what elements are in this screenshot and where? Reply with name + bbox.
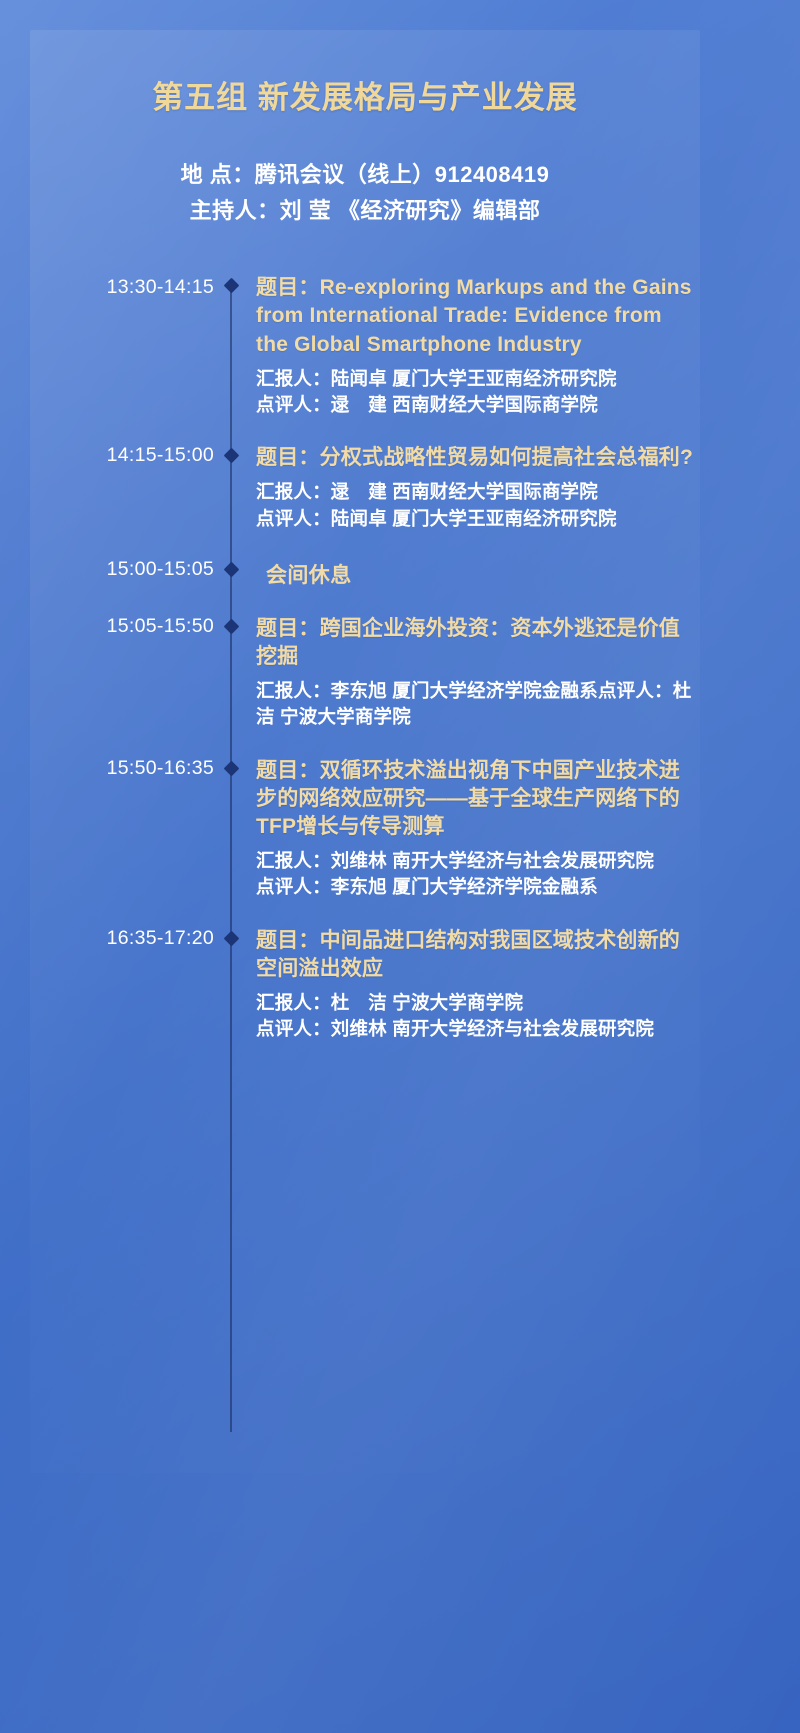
break-label: 会间休息 [256, 559, 696, 589]
discussant-line: 点评人：刘维林 南开大学经济与社会发展研究院 [256, 1016, 696, 1042]
session-time: 15:05-15:50 [52, 615, 222, 638]
presenter-line: 汇报人：李东旭 厦门大学经济学院金融系点评人：杜 洁 宁波大学商学院 [256, 678, 696, 731]
session-time: 15:00-15:05 [52, 558, 222, 581]
schedule-row: 15:50-16:35题目：双循环技术溢出视角下中国产业技术进步的网络效应研究—… [52, 757, 700, 901]
timeline-marker-cell [222, 927, 250, 953]
schedule-row-break: 15:00-15:05会间休息 [52, 558, 700, 589]
header-meta: 地 点：腾讯会议（线上）912408419 主持人：刘 莹 《经济研究》编辑部 [60, 157, 670, 228]
session-content: 题目：分权式战略性贸易如何提高社会总福利?汇报人：逯 建 西南财经大学国际商学院… [250, 444, 700, 532]
page-title: 第五组 新发展格局与产业发展 [60, 72, 670, 117]
diamond-marker-icon [224, 278, 240, 294]
diamond-marker-icon [224, 562, 240, 578]
discussant-line: 点评人：李东旭 厦门大学经济学院金融系 [256, 874, 696, 900]
diamond-marker-icon [224, 930, 240, 946]
timeline-marker-cell [222, 757, 250, 783]
poster-root: 第五组 新发展格局与产业发展 地 点：腾讯会议（线上）912408419 主持人… [0, 0, 800, 1733]
session-title: 题目：Re-exploring Markups and the Gains fr… [256, 274, 696, 358]
session-time: 15:50-16:35 [52, 757, 222, 780]
session-content: 题目：中间品进口结构对我国区域技术创新的空间溢出效应汇报人：杜 洁 宁波大学商学… [250, 927, 700, 1043]
session-title: 题目：分权式战略性贸易如何提高社会总福利? [256, 444, 696, 472]
timeline-marker-cell [222, 444, 250, 470]
session-content: 题目：双循环技术溢出视角下中国产业技术进步的网络效应研究——基于全球生产网络下的… [250, 757, 700, 901]
session-time: 16:35-17:20 [52, 927, 222, 950]
session-content: 会间休息 [250, 558, 700, 589]
session-time: 14:15-15:00 [52, 444, 222, 467]
session-title: 题目：双循环技术溢出视角下中国产业技术进步的网络效应研究——基于全球生产网络下的… [256, 757, 696, 841]
session-people: 汇报人：刘维林 南开大学经济与社会发展研究院点评人：李东旭 厦门大学经济学院金融… [256, 848, 696, 901]
timeline-marker-cell [222, 558, 250, 584]
schedule-list: 13:30-14:15题目：Re-exploring Markups and t… [30, 274, 700, 1042]
presenter-line: 汇报人：刘维林 南开大学经济与社会发展研究院 [256, 848, 696, 874]
schedule-row: 16:35-17:20题目：中间品进口结构对我国区域技术创新的空间溢出效应汇报人… [52, 927, 700, 1043]
session-people: 汇报人：逯 建 西南财经大学国际商学院点评人：陆闻卓 厦门大学王亚南经济研究院 [256, 479, 696, 532]
timeline-marker-cell [222, 615, 250, 641]
schedule-row: 15:05-15:50题目：跨国企业海外投资：资本外逃还是价值挖掘汇报人：李东旭… [52, 615, 700, 731]
diamond-marker-icon [224, 619, 240, 635]
schedule-row: 13:30-14:15题目：Re-exploring Markups and t… [52, 274, 700, 418]
diamond-marker-icon [224, 448, 240, 464]
card-bottom-spacer [30, 1068, 700, 1108]
presenter-line: 汇报人：陆闻卓 厦门大学王亚南经济研究院 [256, 366, 696, 392]
diamond-marker-icon [224, 760, 240, 776]
presenter-line: 汇报人：逯 建 西南财经大学国际商学院 [256, 479, 696, 505]
host-line: 主持人：刘 莹 《经济研究》编辑部 [60, 193, 670, 229]
session-people: 汇报人：杜 洁 宁波大学商学院点评人：刘维林 南开大学经济与社会发展研究院 [256, 990, 696, 1043]
session-people: 汇报人：陆闻卓 厦门大学王亚南经济研究院点评人：逯 建 西南财经大学国际商学院 [256, 366, 696, 419]
session-content: 题目：跨国企业海外投资：资本外逃还是价值挖掘汇报人：李东旭 厦门大学经济学院金融… [250, 615, 700, 731]
presenter-line: 汇报人：杜 洁 宁波大学商学院 [256, 990, 696, 1016]
session-content: 题目：Re-exploring Markups and the Gains fr… [250, 274, 700, 418]
schedule-card: 第五组 新发展格局与产业发展 地 点：腾讯会议（线上）912408419 主持人… [30, 30, 700, 1473]
session-time: 13:30-14:15 [52, 274, 222, 299]
discussant-line: 点评人：逯 建 西南财经大学国际商学院 [256, 392, 696, 418]
session-people: 汇报人：李东旭 厦门大学经济学院金融系点评人：杜 洁 宁波大学商学院 [256, 678, 696, 731]
session-title: 题目：跨国企业海外投资：资本外逃还是价值挖掘 [256, 615, 696, 671]
poster-header: 第五组 新发展格局与产业发展 地 点：腾讯会议（线上）912408419 主持人… [30, 30, 700, 228]
venue-line: 地 点：腾讯会议（线上）912408419 [60, 157, 670, 193]
schedule-row: 14:15-15:00题目：分权式战略性贸易如何提高社会总福利?汇报人：逯 建 … [52, 444, 700, 532]
session-title: 题目：中间品进口结构对我国区域技术创新的空间溢出效应 [256, 927, 696, 983]
discussant-line: 点评人：陆闻卓 厦门大学王亚南经济研究院 [256, 506, 696, 532]
timeline-marker-cell [222, 274, 250, 300]
